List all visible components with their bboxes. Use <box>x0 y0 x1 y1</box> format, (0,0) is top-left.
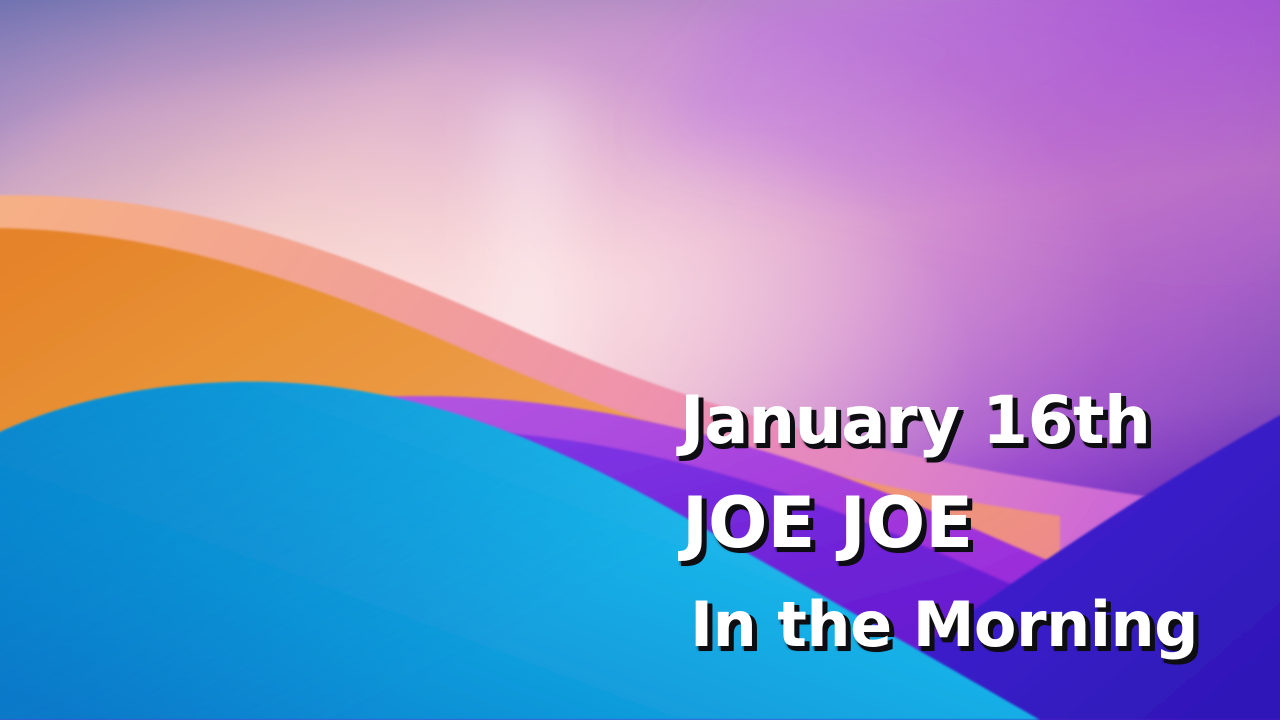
caption-line-show-name: JOE JOE <box>682 488 1238 558</box>
screen-canvas: January 16th JOE JOE In the Morning <box>0 0 1280 720</box>
broadcast-schedule-caption: January 16th JOE JOE In the Morning <box>678 388 1238 656</box>
caption-line-date: January 16th <box>680 388 1238 454</box>
caption-line-daypart: In the Morning <box>690 594 1238 656</box>
